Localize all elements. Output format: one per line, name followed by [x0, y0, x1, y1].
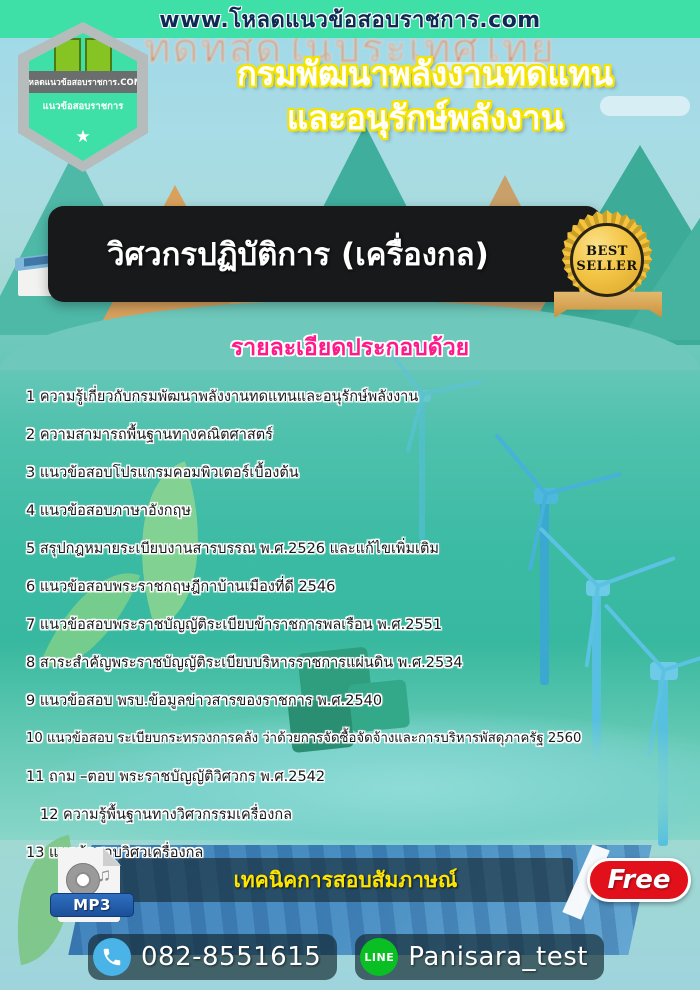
interview-technique-text: เทคนิคการสอบสัมภาษณ์	[234, 864, 458, 897]
website-url-text: www.โหลดแนวข้อสอบราชการ.com	[159, 2, 540, 37]
list-item: 12 ความรู้พื้นฐานทางวิศวกรรมเครื่องกล	[26, 796, 686, 834]
best-seller-badge: Best Seller	[548, 208, 668, 323]
list-item: 8 สาระสำคัญพระราชบัญญัติระเบียบบริหารราช…	[26, 644, 686, 682]
list-item: 10 แนวข้อสอบ ระเบียบกระทรวงการคลัง ว่าด้…	[26, 720, 686, 758]
list-item: 5 สรุปกฎหมายระเบียบงานสารบรรณ พ.ศ.2526 แ…	[26, 530, 686, 568]
line-icon: LINE	[360, 938, 398, 976]
brand-badge-subtitle: แนวข้อสอบราชการ	[29, 99, 137, 114]
free-pill: Free	[587, 858, 691, 902]
list-item: 7 แนวข้อสอบพระราชบัญญัติระเบียบข้าราชการ…	[26, 606, 686, 644]
brand-badge-inner: โหลดแนวข้อสอบราชการ.COM แนวข้อสอบราชการ …	[29, 33, 137, 161]
seal-center: Best Seller	[570, 223, 644, 297]
contact-row: 082-8551615 LINE Panisara_test	[0, 928, 700, 986]
mp3-label-text: MP3	[73, 896, 111, 914]
department-title-line1: กรมพัฒนาพลังงานทดแทน	[165, 52, 685, 96]
phone-contact[interactable]: 082-8551615	[88, 934, 337, 980]
music-note-icon: ♫	[97, 866, 111, 885]
content-heading: รายละเอียดประกอบด้วย	[0, 330, 700, 366]
list-item: 11 ถาม –ตอบ พระราชบัญญัติวิศวกร พ.ศ.2542	[26, 758, 686, 796]
brand-badge-bar: โหลดแนวข้อสอบราชการ.COM	[18, 71, 148, 93]
poster-root: ที่ดีที่สุดในประเทศไทย	[0, 0, 700, 990]
department-title-line2: และอนุรักษ์พลังงาน	[165, 96, 685, 140]
list-item: 9 แนวข้อสอบ พรบ.ข้อมูลข่าวสารของราชการ พ…	[26, 682, 686, 720]
phone-icon	[93, 938, 131, 976]
position-title-text: วิศวกรปฏิบัติการ (เครื่องกล)	[48, 229, 602, 279]
open-book-icon	[54, 38, 112, 74]
free-badge: Free	[565, 846, 695, 920]
list-item: 6 แนวข้อสอบพระราชกฤษฎีกาบ้านเมืองที่ดี 2…	[26, 568, 686, 606]
free-label-text: Free	[608, 865, 671, 895]
list-item: 2 ความสามารถพื้นฐานทางคณิตศาสตร์	[26, 416, 686, 454]
website-url-bar: www.โหลดแนวข้อสอบราชการ.com	[0, 0, 700, 38]
cd-disc-icon	[66, 863, 100, 897]
phone-number-text: 082-8551615	[141, 942, 321, 972]
list-item: 1 ความรู้เกี่ยวกับกรมพัฒนาพลังงานทดแทนแล…	[26, 378, 686, 416]
interview-technique-bar: เทคนิคการสอบสัมภาษณ์	[118, 858, 573, 902]
mp3-label-tag: MP3	[50, 893, 134, 917]
content-list: 1 ความรู้เกี่ยวกับกรมพัฒนาพลังงานทดแทนแล…	[26, 378, 686, 872]
line-contact[interactable]: LINE Panisara_test	[355, 934, 604, 980]
list-item: 3 แนวข้อสอบโปรแกรมคอมพิวเตอร์เบื้องต้น	[26, 454, 686, 492]
seal-line1: Best	[586, 245, 628, 260]
seal-line2: Seller	[576, 260, 637, 275]
department-title: กรมพัฒนาพลังงานทดแทน และอนุรักษ์พลังงาน	[165, 52, 685, 139]
brand-badge-domain: โหลดแนวข้อสอบราชการ.COM	[24, 75, 142, 89]
mp3-file-icon: ♫ MP3	[50, 848, 134, 926]
line-badge-text: LINE	[364, 951, 394, 964]
list-item: 4 แนวข้อสอบภาษาอังกฤษ	[26, 492, 686, 530]
star-icon: ★	[75, 128, 90, 145]
position-title-box: วิศวกรปฏิบัติการ (เครื่องกล)	[48, 206, 602, 302]
line-id-text: Panisara_test	[408, 942, 588, 972]
